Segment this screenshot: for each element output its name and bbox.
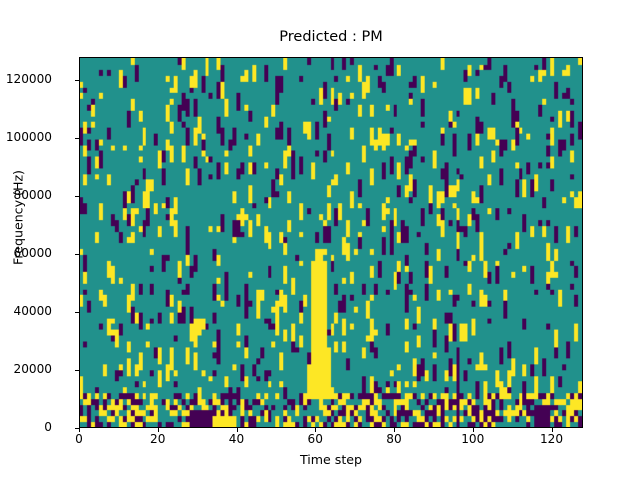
- y-tick-label: 0: [44, 421, 52, 433]
- x-tick-label: 120: [522, 433, 582, 446]
- y-tick-label: 120000: [6, 73, 52, 85]
- x-tick-label: 40: [207, 433, 267, 446]
- x-tick-mark: [237, 428, 238, 432]
- x-tick-label: 60: [285, 433, 345, 446]
- y-tick-label: 20000: [14, 363, 52, 375]
- x-tick-label: 0: [49, 433, 109, 446]
- plot-area: [79, 57, 583, 428]
- x-tick-label: 100: [443, 433, 503, 446]
- matplotlib-figure: Predicted : PM 0200004000060000800001000…: [0, 0, 640, 480]
- x-tick-mark: [79, 428, 80, 432]
- x-axis-label: Time step: [79, 452, 583, 467]
- heatmap-canvas: [80, 58, 582, 427]
- y-axis-label: Frequency (Hz): [11, 88, 26, 348]
- x-tick-mark: [473, 428, 474, 432]
- x-tick-mark: [158, 428, 159, 432]
- x-tick-mark: [552, 428, 553, 432]
- x-tick-mark: [394, 428, 395, 432]
- page-title: Predicted : PM: [79, 28, 583, 46]
- x-tick-label: 20: [128, 433, 188, 446]
- x-tick-label: 80: [364, 433, 424, 446]
- x-tick-mark: [315, 428, 316, 432]
